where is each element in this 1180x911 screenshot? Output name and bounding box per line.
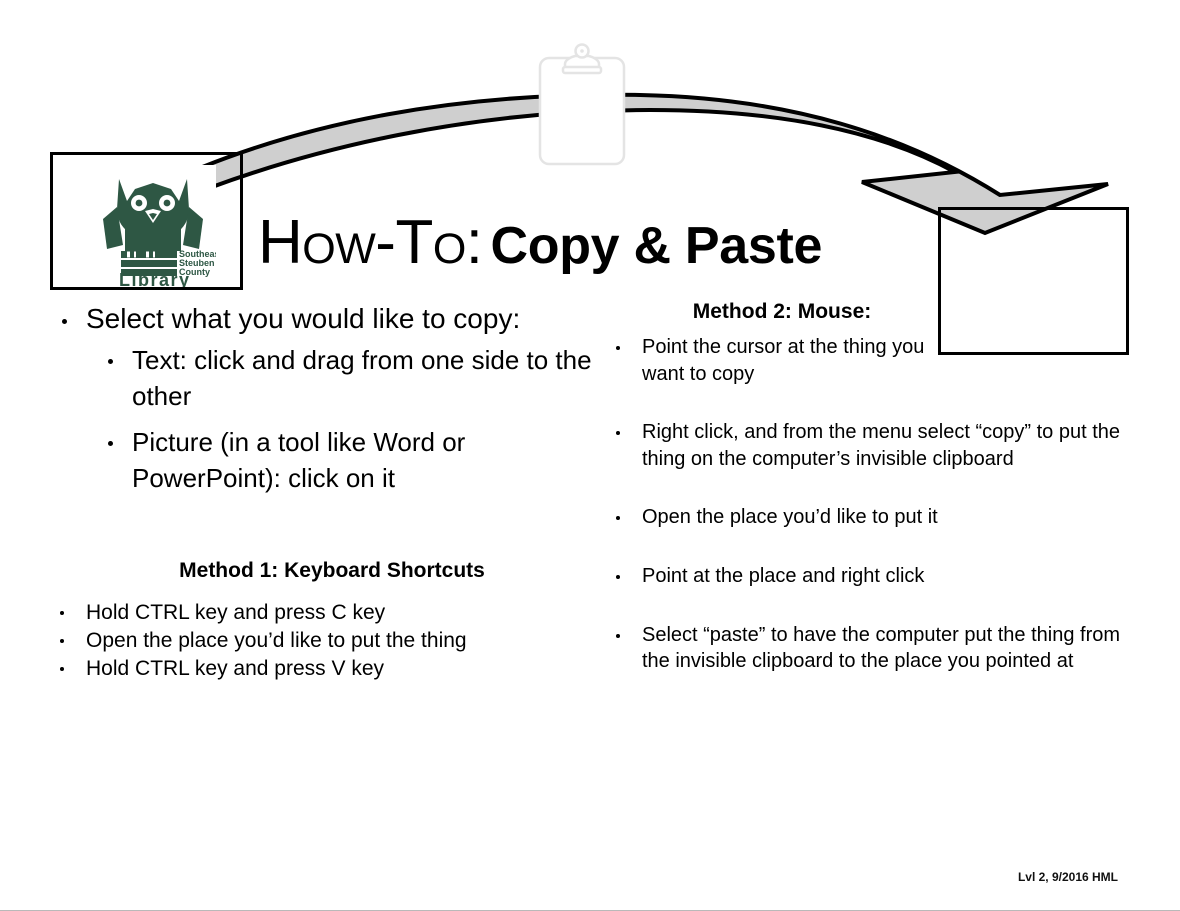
method-1-steps: Hold CTRL key and press C key Open the p… xyxy=(48,599,608,683)
list-item: Point the cursor at the thing you want t… xyxy=(604,334,942,387)
logo-wordmark: Library xyxy=(119,270,191,287)
list-item: Text: click and drag from one side to th… xyxy=(86,343,608,415)
list-item: Hold CTRL key and press V key xyxy=(48,655,608,683)
select-sub-list: Text: click and drag from one side to th… xyxy=(86,343,608,497)
list-item: Select what you would like to copy: Text… xyxy=(48,300,608,497)
intro-bullet-text: Select what you would like to copy: xyxy=(86,300,608,337)
method-2-heading: Method 2: Mouse: xyxy=(604,300,1144,324)
list-item: Select “paste” to have the computer put … xyxy=(604,622,1144,675)
slide-footer: Lvl 2, 9/2016 HML xyxy=(1018,870,1118,884)
slide-canvas: Southeast Steuben County Library How-To:… xyxy=(0,0,1180,911)
list-item: Right click, and from the menu select “c… xyxy=(604,419,1144,472)
right-column: Method 2: Mouse: Point the cursor at the… xyxy=(604,300,1144,707)
list-item: Open the place you’d like to put it xyxy=(604,504,1144,531)
list-item: Picture (in a tool like Word or PowerPoi… xyxy=(86,425,608,497)
title-main: Copy & Paste xyxy=(491,217,823,275)
clipboard-icon xyxy=(537,42,627,167)
method-1-heading: Method 1: Keyboard Shortcuts xyxy=(48,559,608,583)
left-column: Select what you would like to copy: Text… xyxy=(48,300,608,683)
list-item: Open the place you’d like to put the thi… xyxy=(48,627,608,655)
method-2-steps: Point the cursor at the thing you want t… xyxy=(604,334,1144,675)
list-item: Point at the place and right click xyxy=(604,563,1144,590)
source-content-box: Southeast Steuben County Library xyxy=(50,152,243,290)
page-title: How-To:Copy & Paste xyxy=(258,206,918,280)
library-logo: Southeast Steuben County Library xyxy=(91,165,216,287)
list-item: Hold CTRL key and press C key xyxy=(48,599,608,627)
title-prefix: How-To: xyxy=(258,208,483,277)
select-instructions-list: Select what you would like to copy: Text… xyxy=(48,300,608,497)
